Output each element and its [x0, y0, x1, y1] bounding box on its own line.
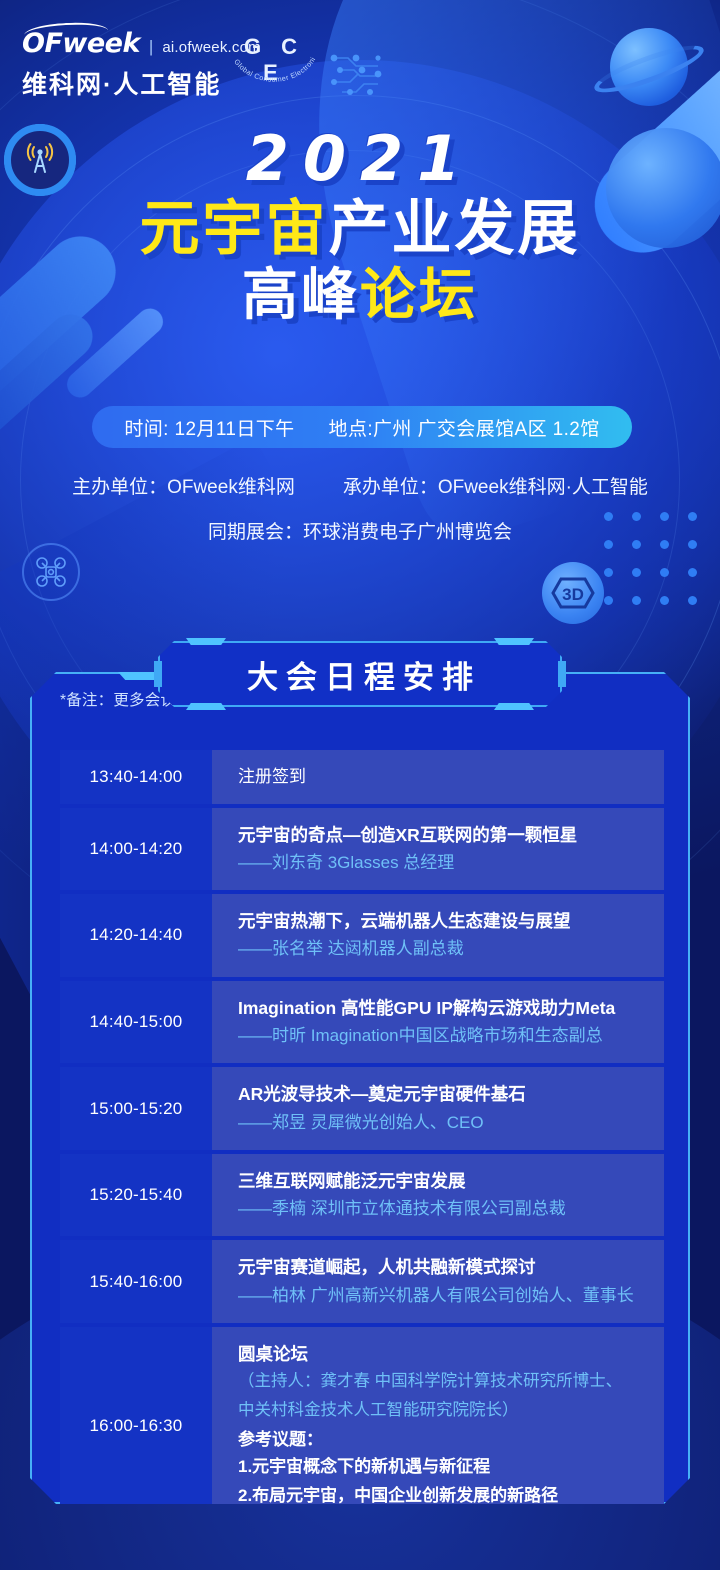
roundtable-host-line-1: （主持人：龚才春 中国科学院计算技术研究所博士、 [238, 1367, 664, 1395]
title-line2-rest: 产业发展 [329, 195, 581, 262]
row-time-cell: 14:00-14:20 [60, 808, 212, 891]
title-line3-highlight: 论坛 [360, 263, 478, 326]
row-time-cell: 13:40-14:00 [60, 750, 212, 804]
title-year: 2021 [0, 126, 720, 191]
title-line-3: 高峰论坛 [0, 264, 720, 327]
drone-icon [22, 543, 80, 601]
poster-title: 2021 元宇宙产业发展 高峰论坛 [0, 126, 720, 327]
organizers-block: 主办单位：OFweek维科网 承办单位：OFweek维科网·人工智能 同期展会：… [0, 472, 720, 544]
session-speaker: ——刘东奇 3Glasses 总经理 [238, 850, 664, 876]
row-time-cell: 14:40-15:00 [60, 981, 212, 1064]
co-organizer: 承办单位：OFweek维科网·人工智能 [343, 472, 648, 499]
title-line-2: 元宇宙产业发展 [0, 195, 720, 262]
session-speaker: ——柏林 广州高新兴机器人有限公司创始人、董事长 [238, 1283, 664, 1309]
row-content-cell: 三维互联网赋能泛元宇宙发展——季楠 深圳市立体通技术有限公司副总裁 [212, 1154, 664, 1237]
row-content-cell: AR光波导技术—奠定元宇宙硬件基石——郑昱 灵犀微光创始人、CEO [212, 1067, 664, 1150]
session-title: 注册签到 [238, 764, 664, 790]
session-title: 元宇宙赛道崛起，人机共融新模式探讨 [238, 1254, 664, 1280]
schedule-banner-title: 大会日程安排 [158, 641, 562, 707]
roundtable-title: 圆桌论坛 [238, 1341, 664, 1367]
roundtable-host-line-2: 中关村科金技术人工智能研究院院长） [238, 1396, 664, 1424]
roundtable-topic-1: 1.元宇宙概念下的新机遇与新征程 [238, 1453, 664, 1482]
event-time: 时间: 12月11日下午 [124, 414, 294, 441]
3d-cube-icon: 3D [542, 562, 604, 624]
session-speaker: ——张名举 达闼机器人副总裁 [238, 936, 664, 962]
gce-fullname: Global Consumer Electronics Expo [228, 52, 317, 84]
host-organizer: 主办单位：OFweek维科网 [72, 472, 295, 499]
gce-logo: G C E Global Consumer Electronics Expo [228, 34, 320, 100]
table-row: 14:20-14:40元宇宙热潮下，云端机器人生态建设与展望——张名举 达闼机器… [60, 894, 664, 977]
poster-header: OFweek | ai.ofweek.com 维科网·人工智能 G C E Gl… [0, 0, 720, 120]
session-speaker: ——郑昱 灵犀微光创始人、CEO [238, 1110, 664, 1136]
table-row: 13:40-14:00注册签到 [60, 750, 664, 804]
table-row-roundtable: 16:00-16:30圆桌论坛（主持人：龚才春 中国科学院计算技术研究所博士、中… [60, 1327, 664, 1524]
session-title: 元宇宙热潮下，云端机器人生态建设与展望 [238, 908, 664, 934]
ofweek-wordmark: OFweek [22, 30, 140, 57]
roundtable-topics-label: 参考议题： [238, 1426, 664, 1453]
event-place: 地点:广州 广交会展馆A区 1.2馆 [329, 414, 600, 441]
event-info-pill: 时间: 12月11日下午 地点:广州 广交会展馆A区 1.2馆 [92, 406, 632, 448]
table-row: 15:20-15:40三维互联网赋能泛元宇宙发展——季楠 深圳市立体通技术有限公… [60, 1154, 664, 1237]
session-title: AR光波导技术—奠定元宇宙硬件基石 [238, 1081, 664, 1107]
row-time-cell: 15:20-15:40 [60, 1154, 212, 1237]
schedule-banner: 大会日程安排 [158, 641, 562, 707]
row-content-cell: 注册签到 [212, 750, 664, 804]
session-speaker: ——季楠 深圳市立体通技术有限公司副总裁 [238, 1196, 664, 1222]
ofweek-logo: OFweek | ai.ofweek.com 维科网·人工智能 [22, 30, 261, 101]
session-title: Imagination 高性能GPU IP解构云游戏助力Meta [238, 995, 664, 1021]
table-row: 15:00-15:20AR光波导技术—奠定元宇宙硬件基石——郑昱 灵犀微光创始人… [60, 1067, 664, 1150]
row-time-cell: 15:00-15:20 [60, 1067, 212, 1150]
logo-chinese-name: 维科网·人工智能 [22, 65, 261, 101]
svg-text:Global Consumer Electronics Ex: Global Consumer Electronics Expo [228, 52, 317, 84]
title-line2-highlight: 元宇宙 [140, 195, 329, 262]
session-title: 元宇宙的奇点—创造XR互联网的第一颗恒星 [238, 822, 664, 848]
schedule-table: 13:40-14:00注册签到14:00-14:20元宇宙的奇点—创造XR互联网… [60, 750, 664, 1528]
schedule-frame: 13:40-14:00注册签到14:00-14:20元宇宙的奇点—创造XR互联网… [30, 672, 690, 1504]
svg-text:3D: 3D [562, 585, 584, 604]
session-title: 三维互联网赋能泛元宇宙发展 [238, 1168, 664, 1194]
session-speaker: ——时昕 Imagination中国区战略市场和生态副总 [238, 1023, 664, 1049]
table-row: 15:40-16:00元宇宙赛道崛起，人机共融新模式探讨——柏林 广州高新兴机器… [60, 1240, 664, 1323]
row-content-cell: Imagination 高性能GPU IP解构云游戏助力Meta——时昕 Ima… [212, 981, 664, 1064]
table-row: 14:40-15:00Imagination 高性能GPU IP解构云游戏助力M… [60, 981, 664, 1064]
row-content-cell: 元宇宙的奇点—创造XR互联网的第一颗恒星——刘东奇 3Glasses 总经理 [212, 808, 664, 891]
drone-ring [22, 543, 80, 601]
roundtable-content-cell: 圆桌论坛（主持人：龚才春 中国科学院计算技术研究所博士、中关村科金技术人工智能研… [212, 1327, 664, 1524]
logo-divider: | [149, 38, 153, 57]
row-content-cell: 元宇宙赛道崛起，人机共融新模式探讨——柏林 广州高新兴机器人有限公司创始人、董事… [212, 1240, 664, 1323]
row-time-cell: 16:00-16:30 [60, 1327, 212, 1524]
row-content-cell: 元宇宙热潮下，云端机器人生态建设与展望——张名举 达闼机器人副总裁 [212, 894, 664, 977]
title-line3-first: 高峰 [242, 263, 360, 326]
concurrent-expo: 同期展会：环球消费电子广州博览会 [0, 517, 720, 544]
row-time-cell: 15:40-16:00 [60, 1240, 212, 1323]
table-row: 14:00-14:20元宇宙的奇点—创造XR互联网的第一颗恒星——刘东奇 3Gl… [60, 808, 664, 891]
row-time-cell: 14:20-14:40 [60, 894, 212, 977]
